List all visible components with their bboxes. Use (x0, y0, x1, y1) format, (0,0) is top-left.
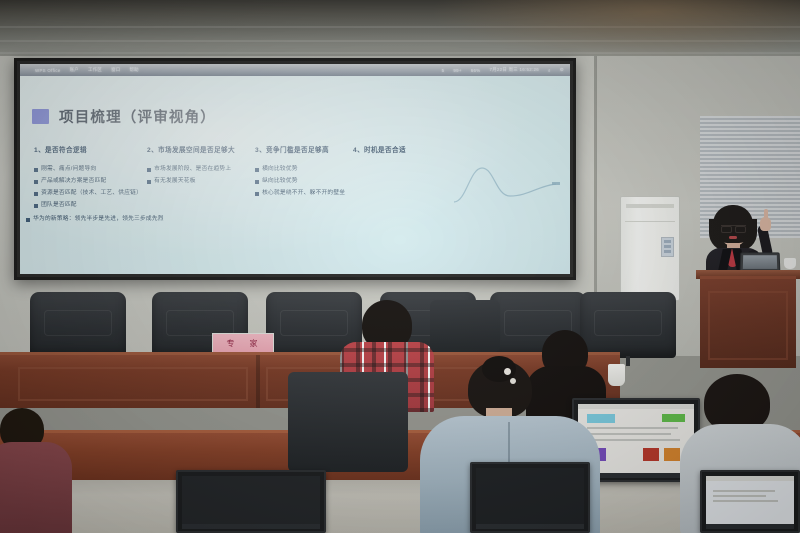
bullet-square-icon (255, 192, 259, 196)
air-conditioner-unit (620, 196, 680, 301)
placard-char-2: 家 (250, 338, 260, 349)
bullet-item: 刚需、痛点/问题导向 (34, 166, 141, 173)
control-center-icon[interactable]: ⚙ (560, 67, 564, 73)
laptop-screen (700, 470, 800, 533)
bullet-square-icon (147, 168, 151, 172)
menu-item-workspace[interactable]: 工作区 (88, 67, 102, 73)
ceiling (0, 0, 800, 60)
podium (700, 276, 796, 368)
bullet-square-icon (34, 192, 38, 196)
bullet-square-icon (255, 180, 259, 184)
laptop-webpage (706, 476, 794, 524)
message-count[interactable]: 99+ (453, 68, 461, 73)
ac-control-panel[interactable] (661, 237, 674, 257)
clock[interactable]: 7月22日 周三 16:52:26 (489, 67, 539, 73)
bullet-square-icon (255, 168, 259, 172)
bullet-text: 团队是否匹配 (41, 202, 77, 209)
bullet-square-icon (34, 180, 38, 184)
slide-column-2: 2、市场发展空间是否足够大 市场发展阶段、是否在趋势上 有无发展天花板 (147, 146, 255, 214)
bullet-text: 产品或解决方案是否匹配 (41, 178, 106, 185)
title-accent-chip (32, 109, 49, 124)
column-heading: 4、时机是否合适 (353, 146, 557, 155)
table-panel (18, 367, 248, 401)
audience-member-left-edge (0, 408, 70, 533)
menu-item-help[interactable]: 帮助 (129, 67, 138, 73)
bullet-square-icon (34, 204, 38, 208)
bullet-text: 纵向比较优势 (262, 178, 298, 185)
projection-screen: WPS Office 账户 工作区 窗口 帮助 5 99+ 66% 7月22日 … (14, 58, 576, 280)
paper-cup (608, 364, 625, 386)
laptop-screen (470, 462, 590, 533)
bullet-item: 核心就是绕不开、躲不开的壁垒 (255, 190, 347, 197)
audience-laptop[interactable] (470, 462, 590, 533)
menu-item-wps-office[interactable]: WPS Office (35, 68, 61, 73)
bullet-item: 资源是否匹配（技术、工艺、供应链） (34, 190, 141, 197)
bullet-item: 团队是否匹配 (34, 202, 141, 209)
slide-title-row: 项目梳理（评审视角） (32, 106, 216, 127)
bullet-text: 资源是否匹配（技术、工艺、供应链） (41, 190, 141, 197)
audience-laptop[interactable] (176, 470, 326, 533)
podium-panel (708, 291, 788, 360)
page-green-button (662, 414, 685, 422)
conference-room-photo: WPS Office 账户 工作区 窗口 帮助 5 99+ 66% 7月22日 … (0, 0, 800, 533)
laptop-taskbar (182, 524, 320, 529)
placard-char-1: 专 (227, 338, 237, 349)
bullet-text: 华为的新策略：领先半步是先进，领先三步成先烈 (33, 216, 164, 223)
bullet-item: 产品或解决方案是否匹配 (34, 178, 141, 185)
menu-item-account[interactable]: 账户 (70, 67, 79, 73)
bullet-square-icon (34, 168, 38, 172)
search-icon[interactable]: ⌕ (548, 68, 551, 73)
bullet-item: 横向比较优势 (255, 166, 347, 173)
table-seam (256, 355, 260, 408)
podium-cup (784, 258, 796, 269)
presenter-lips (729, 236, 737, 239)
page-thumbnail (664, 448, 680, 460)
page-text-line (587, 427, 677, 429)
ac-vent (626, 204, 674, 208)
bullet-item: 华为的新策略：领先半步是先进，领先三步成先烈 (26, 216, 176, 223)
mac-menu-bar[interactable]: WPS Office 账户 工作区 窗口 帮助 5 99+ 66% 7月22日 … (20, 64, 570, 76)
laptop-screen (176, 470, 326, 533)
bullet-item: 有无发展天花板 (147, 178, 249, 185)
person-torso (0, 442, 72, 533)
battery-indicator[interactable]: 66% (471, 68, 481, 73)
bullet-square-icon (26, 218, 30, 222)
page-thumbnail (643, 448, 659, 460)
column-heading: 3、竞争门槛是否足够高 (255, 146, 347, 155)
page-text-line (713, 500, 778, 502)
bullet-text: 核心就是绕不开、躲不开的壁垒 (262, 190, 345, 197)
conference-chair[interactable] (30, 292, 126, 358)
foreground-chair[interactable] (430, 300, 500, 352)
column-heading: 2、市场发展空间是否足够大 (147, 146, 249, 155)
podium-laptop-screen (743, 255, 777, 269)
bullet-text: 有无发展天花板 (154, 178, 196, 185)
presenter-glasses (721, 225, 746, 230)
page-text-line (713, 490, 775, 492)
bullet-item: 市场发展阶段、是否在趋势上 (147, 166, 249, 173)
page-text-line (713, 495, 766, 497)
laptop-display (476, 468, 584, 524)
bullet-text: 市场发展阶段、是否在趋势上 (154, 166, 231, 173)
slide-column-1: 1、是否符合逻辑 刚需、痛点/问题导向 产品或解决方案是否匹配 资源是否匹配（技… (34, 146, 147, 214)
slide-title: 项目梳理（评审视角） (59, 106, 216, 127)
laptop-taskbar (706, 524, 794, 529)
menu-item-window[interactable]: 窗口 (111, 67, 120, 73)
bullet-text: 刚需、痛点/问题导向 (41, 166, 96, 173)
presentation-slide: 项目梳理（评审视角） 1、是否符合逻辑 刚需、痛点/问题导向 产品或解决方案是否… (20, 76, 570, 274)
hype-curve-diagram (452, 162, 564, 208)
hair-pin (510, 378, 516, 384)
ac-seam (625, 221, 675, 222)
bullet-square-icon (147, 180, 151, 184)
name-placard: 专 家 (212, 333, 274, 353)
ceiling-light-glow (430, 0, 800, 60)
notification-count[interactable]: 5 (442, 68, 445, 73)
presenter-pointing-finger (764, 209, 768, 221)
laptop-taskbar (476, 524, 584, 529)
browser-toolbar (706, 476, 794, 481)
slide-column-3: 3、竞争门槛是否足够高 横向比较优势 纵向比较优势 核心就是绕不开、躲不开的壁垒 (255, 146, 353, 214)
page-text-line (587, 439, 680, 441)
bullet-text: 横向比较优势 (262, 166, 298, 173)
column-heading: 1、是否符合逻辑 (34, 146, 141, 155)
foreground-chair[interactable] (288, 372, 408, 472)
audience-laptop[interactable] (700, 470, 800, 533)
hair-pin (504, 368, 511, 375)
laptop-display (182, 476, 320, 524)
bullet-item: 纵向比较优势 (255, 178, 347, 185)
